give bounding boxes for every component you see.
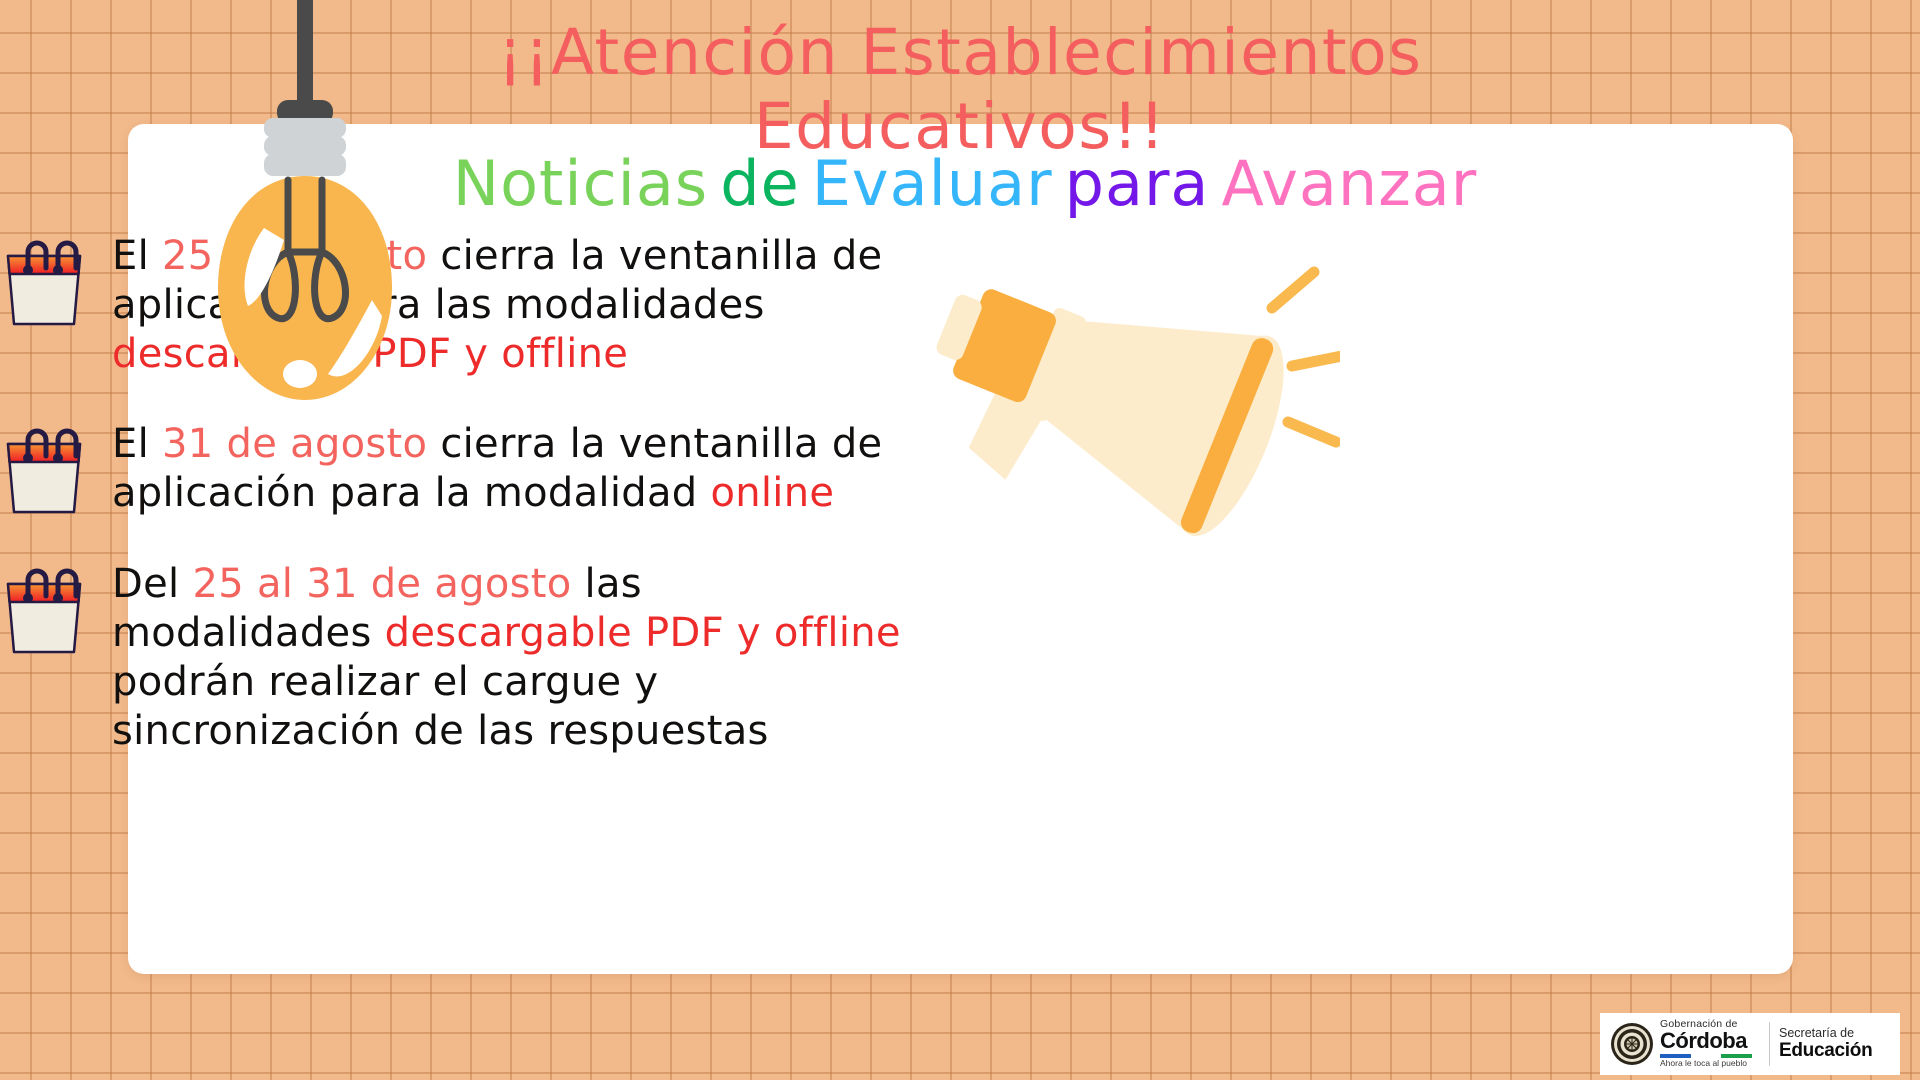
- calendar-icon: [0, 562, 92, 658]
- bullet-segment: online: [710, 470, 834, 516]
- poster-subtitle: NoticiasdeEvaluarparaAvanzar: [290, 150, 1640, 218]
- poster-canvas: ¡¡Atención Establecimientos Educativos!!…: [0, 0, 1920, 1080]
- institutional-logo: Gobernación de Córdoba Ahora le toca al …: [1600, 1013, 1900, 1075]
- bullet-item: El 25 de agosto cierra la ventanilla de …: [0, 228, 1100, 378]
- calendar-icon: [0, 234, 92, 330]
- calendar-icon: [0, 422, 92, 518]
- bullet-list: El 25 de agosto cierra la ventanilla de …: [0, 228, 1100, 794]
- subtitle-word-5: Avanzar: [1221, 147, 1477, 220]
- logo-slogan: Ahora le toca al pueblo: [1660, 1059, 1752, 1068]
- subtitle-word-1: Noticias: [453, 147, 708, 220]
- logo-educacion-label: Educación: [1779, 1041, 1872, 1061]
- seal-icon: [1610, 1022, 1654, 1066]
- logo-cordoba-block: Gobernación de Córdoba Ahora le toca al …: [1600, 1019, 1760, 1068]
- bullet-segment: 25 al 31 de agosto: [192, 561, 571, 607]
- logo-text-block: Gobernación de Córdoba Ahora le toca al …: [1660, 1019, 1752, 1068]
- hanging-lightbulb: [200, 0, 420, 430]
- bullet-segment: Del: [112, 561, 192, 607]
- bullet-segment: descargable PDF y offline: [385, 610, 901, 656]
- bullet-segment: El: [112, 233, 162, 279]
- bullet-segment: El: [112, 421, 162, 467]
- bullet-text: El 31 de agosto cierra la ventanilla de …: [112, 416, 912, 518]
- bullet-text: Del 25 al 31 de agosto las modalidades d…: [112, 556, 912, 755]
- logo-secretaria-block: Secretaría de Educación: [1779, 1027, 1880, 1061]
- bullet-item: Del 25 al 31 de agosto las modalidades d…: [0, 556, 1100, 755]
- calendar-icon: [0, 562, 92, 658]
- logo-divider: [1769, 1022, 1770, 1066]
- calendar-icon: [0, 234, 92, 330]
- subtitle-word-3: Evaluar: [812, 147, 1053, 220]
- logo-cordoba-label: Córdoba: [1660, 1030, 1752, 1052]
- title-line-1: ¡¡Atención Establecimientos: [300, 16, 1620, 90]
- subtitle-word-4: para: [1065, 147, 1210, 220]
- lightbulb-icon: [200, 0, 420, 430]
- bullet-item: El 31 de agosto cierra la ventanilla de …: [0, 416, 1100, 518]
- logo-secretaria-label: Secretaría de: [1779, 1027, 1872, 1041]
- subtitle-word-2: de: [720, 147, 800, 220]
- bullet-segment: podrán realizar el cargue y sincronizaci…: [112, 659, 769, 754]
- calendar-icon: [0, 422, 92, 518]
